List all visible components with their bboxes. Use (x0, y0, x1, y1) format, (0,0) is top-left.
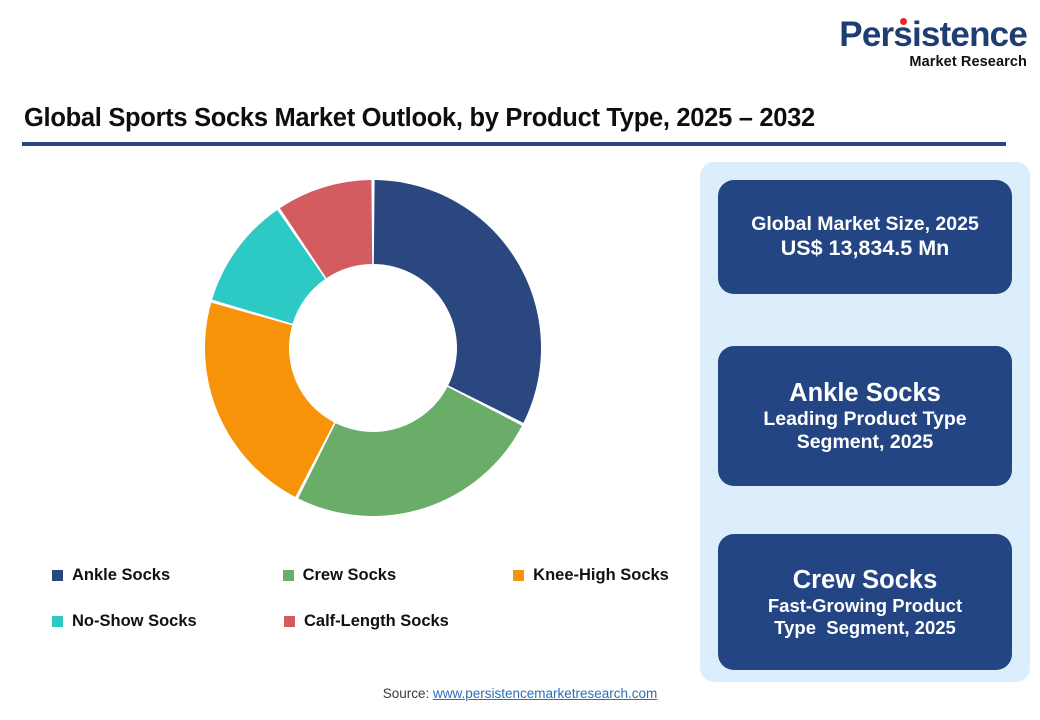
legend-item-ankle-socks: Ankle Socks (52, 566, 283, 585)
card-line-2: Leading Product Type (763, 408, 966, 431)
card-global-market-size: Global Market Size, 2025 US$ 13,834.5 Mn (718, 180, 1012, 294)
legend-label: Calf-Length Socks (304, 612, 449, 631)
donut-chart (0, 150, 690, 540)
source-line: Source: www.persistencemarketresearch.co… (0, 686, 1040, 701)
card-line-3: Type Segment, 2025 (774, 617, 956, 639)
card-line-3: Segment, 2025 (797, 431, 934, 454)
company-logo: Persistence Market Research (822, 16, 1027, 76)
legend-swatch-icon (513, 570, 524, 581)
page-title: Global Sports Socks Market Outlook, by P… (24, 104, 984, 133)
donut-slice-crew-socks (298, 387, 522, 516)
legend-swatch-icon (52, 570, 63, 581)
card-leading-segment: Ankle Socks Leading Product Type Segment… (718, 346, 1012, 486)
logo-accent-dot (900, 18, 907, 25)
logo-wordmark: Persistence (822, 16, 1027, 54)
title-underline-rule (22, 142, 1006, 146)
card-line-1: Crew Socks (793, 565, 938, 595)
legend-item-calf-length-socks: Calf-Length Socks (284, 612, 516, 631)
card-line-1: Global Market Size, 2025 (751, 213, 979, 236)
card-line-1: Ankle Socks (789, 378, 941, 408)
donut-slice-ankle-socks (374, 180, 541, 423)
legend-label: Crew Socks (303, 566, 397, 585)
card-line-2: US$ 13,834.5 Mn (781, 236, 950, 261)
legend-label: Knee-High Socks (533, 566, 669, 585)
card-line-2: Fast-Growing Product (768, 595, 962, 617)
legend-item-knee-high-socks: Knee-High Socks (513, 566, 702, 585)
legend-row-1: Ankle Socks Crew Socks Knee-High Socks (52, 552, 702, 598)
donut-chart-svg (203, 178, 543, 518)
legend-item-crew-socks: Crew Socks (283, 566, 514, 585)
chart-legend: Ankle Socks Crew Socks Knee-High Socks N… (52, 552, 702, 644)
card-fastest-growing-segment: Crew Socks Fast-Growing Product Type Seg… (718, 534, 1012, 670)
legend-label: Ankle Socks (72, 566, 170, 585)
logo-tagline: Market Research (822, 54, 1027, 71)
legend-swatch-icon (52, 616, 63, 627)
legend-label: No-Show Socks (72, 612, 197, 631)
donut-slice-group (205, 180, 541, 516)
legend-swatch-icon (284, 616, 295, 627)
source-prefix: Source: (383, 686, 433, 701)
legend-item-no-show-socks: No-Show Socks (52, 612, 284, 631)
legend-swatch-icon (283, 570, 294, 581)
logo-name-text: Persistence (839, 15, 1027, 54)
legend-row-2: No-Show Socks Calf-Length Socks (52, 598, 702, 644)
source-url-link[interactable]: www.persistencemarketresearch.com (433, 686, 657, 701)
infographic-page: Persistence Market Research Global Sport… (0, 0, 1040, 720)
